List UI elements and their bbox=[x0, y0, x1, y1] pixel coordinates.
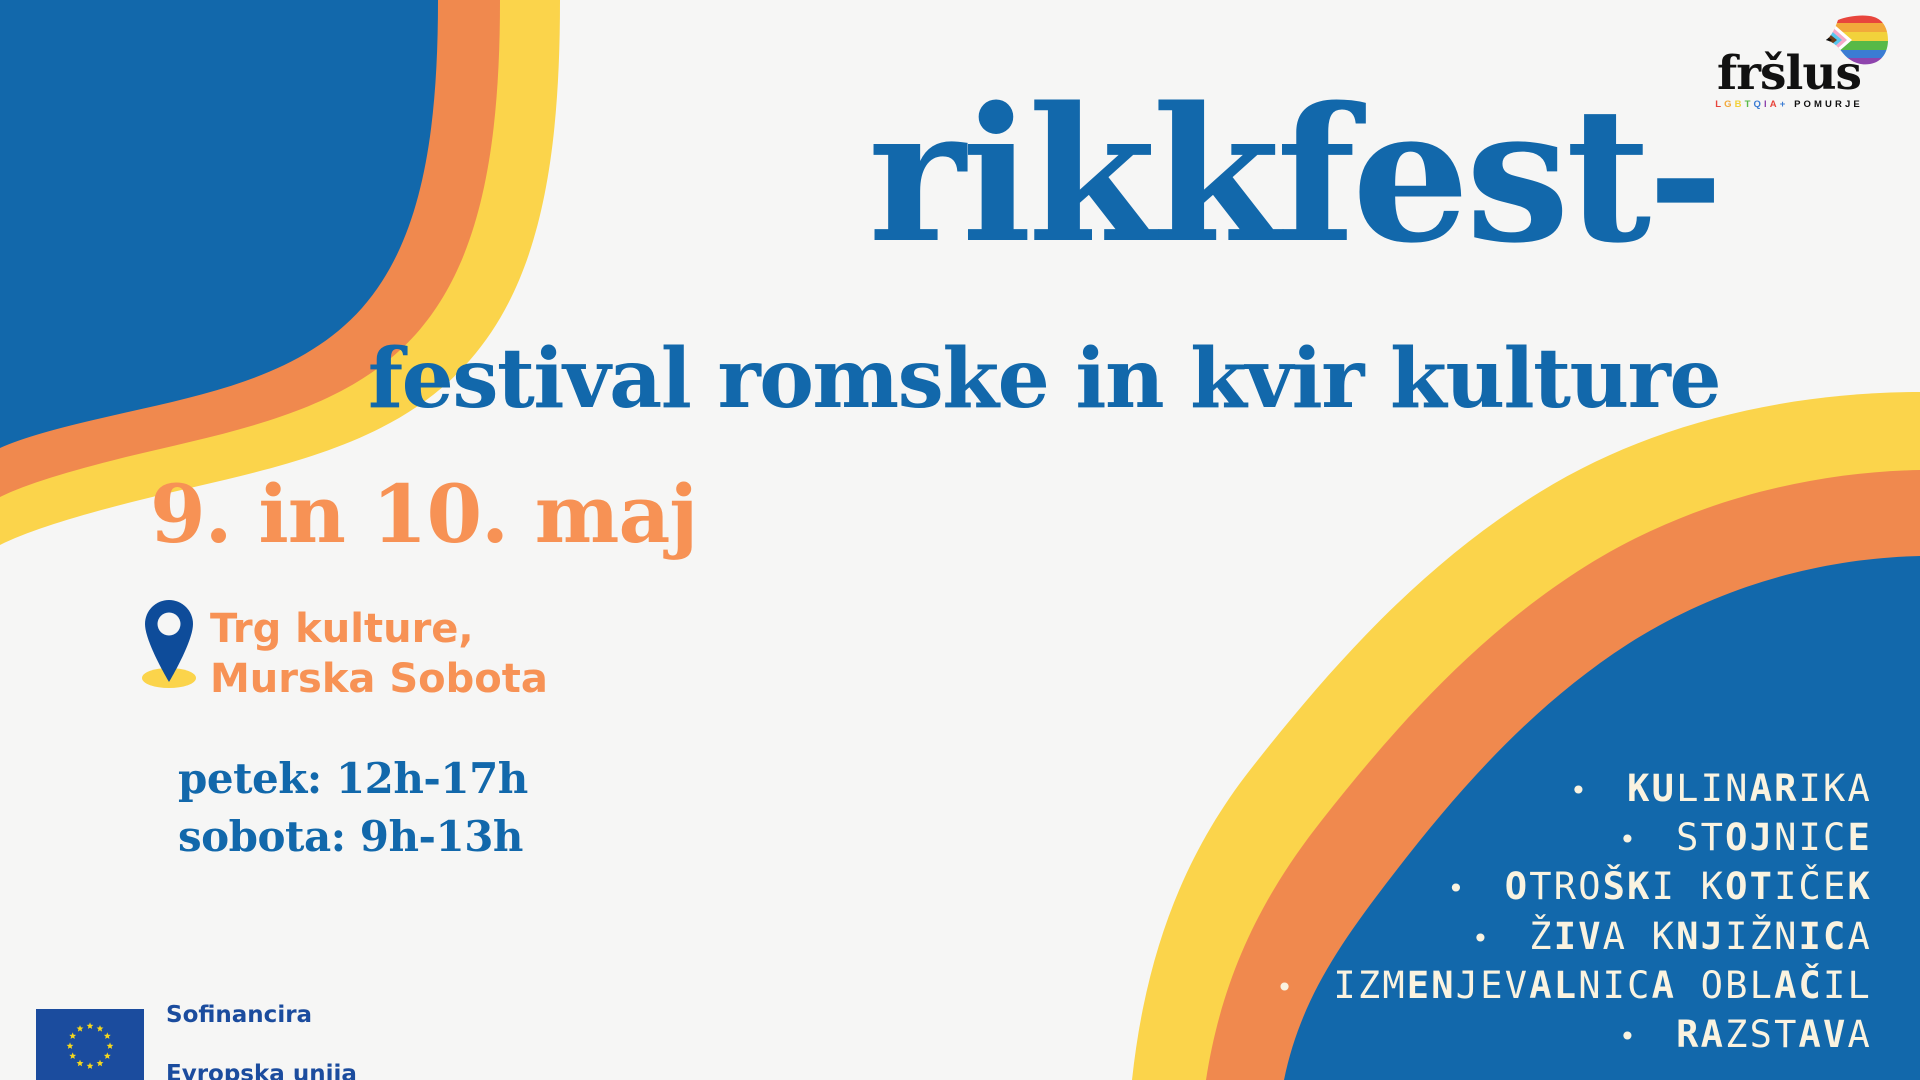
brand-tagline-letter-1: G bbox=[1724, 99, 1735, 110]
brand-tagline-letter-13: R bbox=[1835, 99, 1845, 110]
event-date: 9. in 10. maj bbox=[150, 472, 697, 556]
eu-funding-badge: Sofinancira Evropska unija bbox=[36, 972, 357, 1080]
eu-flag-icon bbox=[36, 1009, 144, 1080]
eu-funding-caption: Sofinancira Evropska unija bbox=[166, 972, 357, 1080]
venue-line-2: Murska Sobota bbox=[210, 654, 548, 704]
activity-label: IZMENJEVALNICA OBLAČIL bbox=[1333, 964, 1872, 1007]
activity-label: ŽIVA KNJIŽNICA bbox=[1529, 915, 1872, 958]
festival-poster: fršlus LGBTQIA+ POMURJE rikkfest- festiv… bbox=[0, 0, 1920, 1080]
activity-label: OTROŠKI KOTIČEK bbox=[1505, 865, 1872, 908]
activities-list: • KULINARIKA• STOJNICE• OTROŠKI KOTIČEK•… bbox=[1112, 764, 1872, 1059]
wave-top-left-yellow bbox=[0, 0, 560, 545]
activity-item: • ŽIVA KNJIŽNICA bbox=[1112, 912, 1872, 961]
venue-block: Trg kulture, Murska Sobota bbox=[140, 598, 548, 705]
activity-label: KULINARIKA bbox=[1627, 767, 1872, 810]
brand-tagline-letter-9: P bbox=[1794, 99, 1803, 110]
eu-caption-line-2: Evropska unija bbox=[166, 1060, 357, 1080]
brand-tagline-letter-10: O bbox=[1804, 99, 1815, 110]
activity-label: STOJNICE bbox=[1676, 816, 1872, 859]
brand-tagline-letter-6: A bbox=[1770, 99, 1780, 110]
activity-bullet-icon: • bbox=[1448, 872, 1505, 905]
eu-caption-line-1: Sofinancira bbox=[166, 1001, 357, 1030]
poster-subtitle: festival romske in kvir kulture bbox=[140, 338, 1720, 420]
activity-label: RAZSTAVA bbox=[1676, 1013, 1872, 1056]
activity-item: • RAZSTAVA bbox=[1112, 1010, 1872, 1059]
activity-item: • STOJNICE bbox=[1112, 813, 1872, 862]
activity-bullet-icon: • bbox=[1619, 1020, 1676, 1053]
activity-bullet-icon: • bbox=[1276, 971, 1333, 1004]
hours-friday: petek: 12h-17h bbox=[178, 750, 528, 808]
venue-text: Trg kulture, Murska Sobota bbox=[210, 598, 548, 705]
opening-hours: petek: 12h-17h sobota: 9h-13h bbox=[178, 750, 528, 866]
map-pin-icon bbox=[140, 598, 198, 690]
activity-bullet-icon: • bbox=[1570, 774, 1627, 807]
activity-item: • IZMENJEVALNICA OBLAČIL bbox=[1112, 961, 1872, 1010]
venue-line-1: Trg kulture, bbox=[210, 604, 548, 654]
poster-title: rikkfest- bbox=[700, 88, 1720, 264]
activity-bullet-icon: • bbox=[1472, 921, 1529, 954]
hours-saturday: sobota: 9h-13h bbox=[178, 808, 528, 866]
brand-tagline-letter-4: Q bbox=[1753, 99, 1764, 110]
activity-item: • KULINARIKA bbox=[1112, 764, 1872, 813]
brand-tagline-letter-12: U bbox=[1825, 99, 1835, 110]
brand-tagline-letter-2: B bbox=[1735, 99, 1745, 110]
brand-tagline-letter-11: M bbox=[1814, 99, 1825, 110]
activity-bullet-icon: • bbox=[1619, 823, 1676, 856]
activity-item: • OTROŠKI KOTIČEK bbox=[1112, 862, 1872, 911]
brand-tagline-letter-15: E bbox=[1853, 99, 1862, 110]
